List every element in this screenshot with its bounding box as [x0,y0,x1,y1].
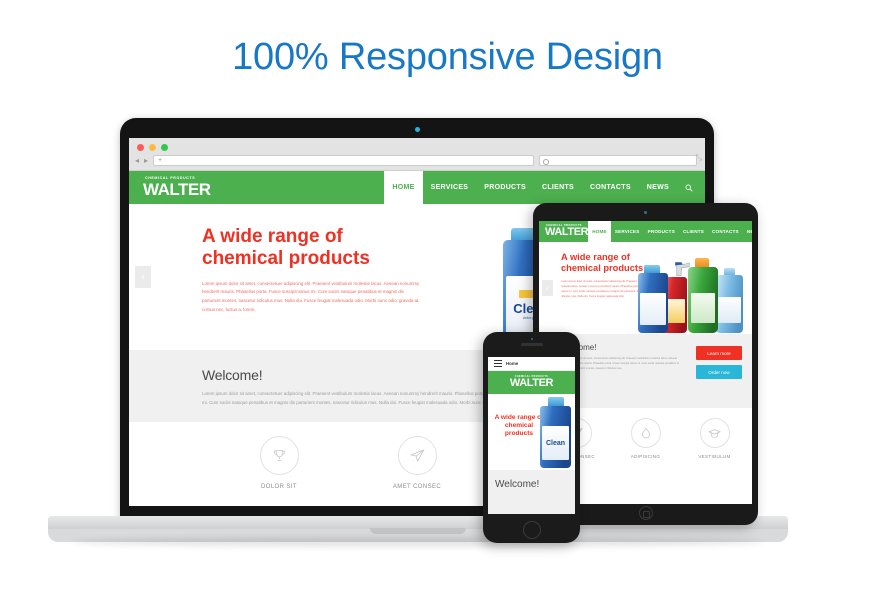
tablet-product-bottles-group [636,250,748,334]
clean-detergent-bottle [638,273,668,333]
hamburger-icon[interactable] [494,360,502,367]
nav-item-products[interactable]: PRODUCTS [476,171,534,204]
browser-search-input[interactable] [539,155,697,166]
tablet-nav-item-products[interactable]: PRODUCTS [644,221,679,242]
site-header: CHEMICAL PRODUCTS WALTER HOME SERVICES P… [129,171,705,204]
tablet-site-header: CHEMICAL PRODUCTS WALTER HOME SERVICES P… [539,221,752,242]
hero-body: Lorem ipsum dolor sit amet, consectetuer… [202,280,420,314]
phone-speaker [521,343,543,346]
search-icon[interactable] [677,171,705,204]
tablet-logo-name: WALTER [545,227,588,238]
responsive-design-showcase: 100% Responsive Design ◂ ▸ + [0,0,895,599]
tablet-nav-item-clients[interactable]: CLIENTS [679,221,708,242]
phone-welcome-heading: Welcome! [495,479,575,490]
tablet-feature-label: VESTIBULUM [687,454,743,459]
nav-item-news[interactable]: NEWS [639,171,677,204]
blue-cleaner-bottle [716,275,743,333]
hero-heading-line2: chemical products [202,248,370,269]
carousel-prev-button[interactable]: ‹ [135,266,151,288]
logo-name: WALTER [143,181,211,198]
tablet-nav-item-home[interactable]: HOME [588,221,611,242]
laptop-camera-icon [415,127,420,132]
page-title: 100% Responsive Design [0,36,895,79]
phone-camera-icon [531,338,533,340]
nav-item-services[interactable]: SERVICES [423,171,477,204]
url-input[interactable]: + [153,155,534,166]
green-cleaner-bottle [688,267,718,333]
phone-hero-heading: A wide range of chemical products [493,414,545,439]
browser-chrome: ◂ ▸ + ⤡ [129,138,705,171]
feature-label: AMET CONSEC [375,484,459,490]
tablet-site-logo[interactable]: CHEMICAL PRODUCTS WALTER [539,221,588,242]
graduation-cap-icon [700,418,730,448]
tablet-carousel-prev-button[interactable]: ‹ [542,280,553,296]
nav-item-contacts[interactable]: CONTACTS [582,171,639,204]
traffic-lights [137,144,168,151]
phone-site-logo[interactable]: CHEMICAL PRODUCTS WALTER [488,371,575,394]
phone-topbar: Home [488,357,575,371]
paper-plane-icon [398,436,437,475]
phone-welcome-section: Welcome! [488,470,575,514]
tablet-hero-slider: A wide range of chemical products Lorem … [539,242,752,334]
laptop-shadow [72,537,764,547]
tablet-camera-icon [644,211,647,214]
main-navigation: HOME SERVICES PRODUCTS CLIENTS CONTACTS … [384,171,705,204]
back-icon[interactable]: ◂ [135,157,139,165]
tablet-nav-item-news[interactable]: NEWS [743,221,752,242]
tablet-feature-label: ADIPISCING [618,454,674,459]
hero-heading: A wide range of chemical products [202,226,420,271]
nav-item-home[interactable]: HOME [384,171,422,204]
phone-home-button[interactable] [523,521,541,539]
feature-label: DOLOR SIT [237,484,321,490]
forward-icon[interactable]: ▸ [144,157,148,165]
tablet-nav-item-contacts[interactable]: CONTACTS [708,221,743,242]
phone-logo-name: WALTER [510,378,553,390]
laptop-trackpad-notch [370,528,466,534]
phone-mockup: Home CHEMICAL PRODUCTS WALTER A wide ran… [483,332,580,543]
tablet-nav-item-services[interactable]: SERVICES [611,221,644,242]
site-logo[interactable]: CHEMICAL PRODUCTS WALTER [129,171,211,204]
trophy-icon [260,436,299,475]
feature-amet-consec[interactable]: AMET CONSEC [375,436,459,490]
nav-item-clients[interactable]: CLIENTS [534,171,582,204]
minimize-window-icon[interactable] [149,144,156,151]
order-now-button[interactable]: Order now [696,365,742,379]
tablet-navigation: HOME SERVICES PRODUCTS CLIENTS CONTACTS … [588,221,752,242]
phone-bottle-label: Clean [546,440,565,447]
tablet-home-button[interactable] [639,506,653,520]
close-window-icon[interactable] [137,144,144,151]
phone-screen: Home CHEMICAL PRODUCTS WALTER A wide ran… [488,357,575,514]
clean-detergent-bottle: Clean [540,406,571,468]
learn-more-button[interactable]: Learn more [696,346,742,360]
tablet-cta-buttons: Learn more Order now [696,346,742,379]
hero-heading-line1: A wide range of [202,226,343,247]
tablet-feature-adipiscing[interactable]: ADIPISCING [618,418,674,459]
resize-grip-icon[interactable]: ⤡ [696,153,702,163]
droplet-icon [631,418,661,448]
maximize-window-icon[interactable] [161,144,168,151]
browser-toolbar: ◂ ▸ + [135,155,697,166]
phone-hero: A wide range of chemical products Clean [488,394,575,470]
tablet-feature-vestibulum[interactable]: VESTIBULUM [687,418,743,459]
feature-dolor-sit[interactable]: DOLOR SIT [237,436,321,490]
phone-menu-label[interactable]: Home [506,361,518,366]
hero-copy: A wide range of chemical products Lorem … [202,226,420,314]
